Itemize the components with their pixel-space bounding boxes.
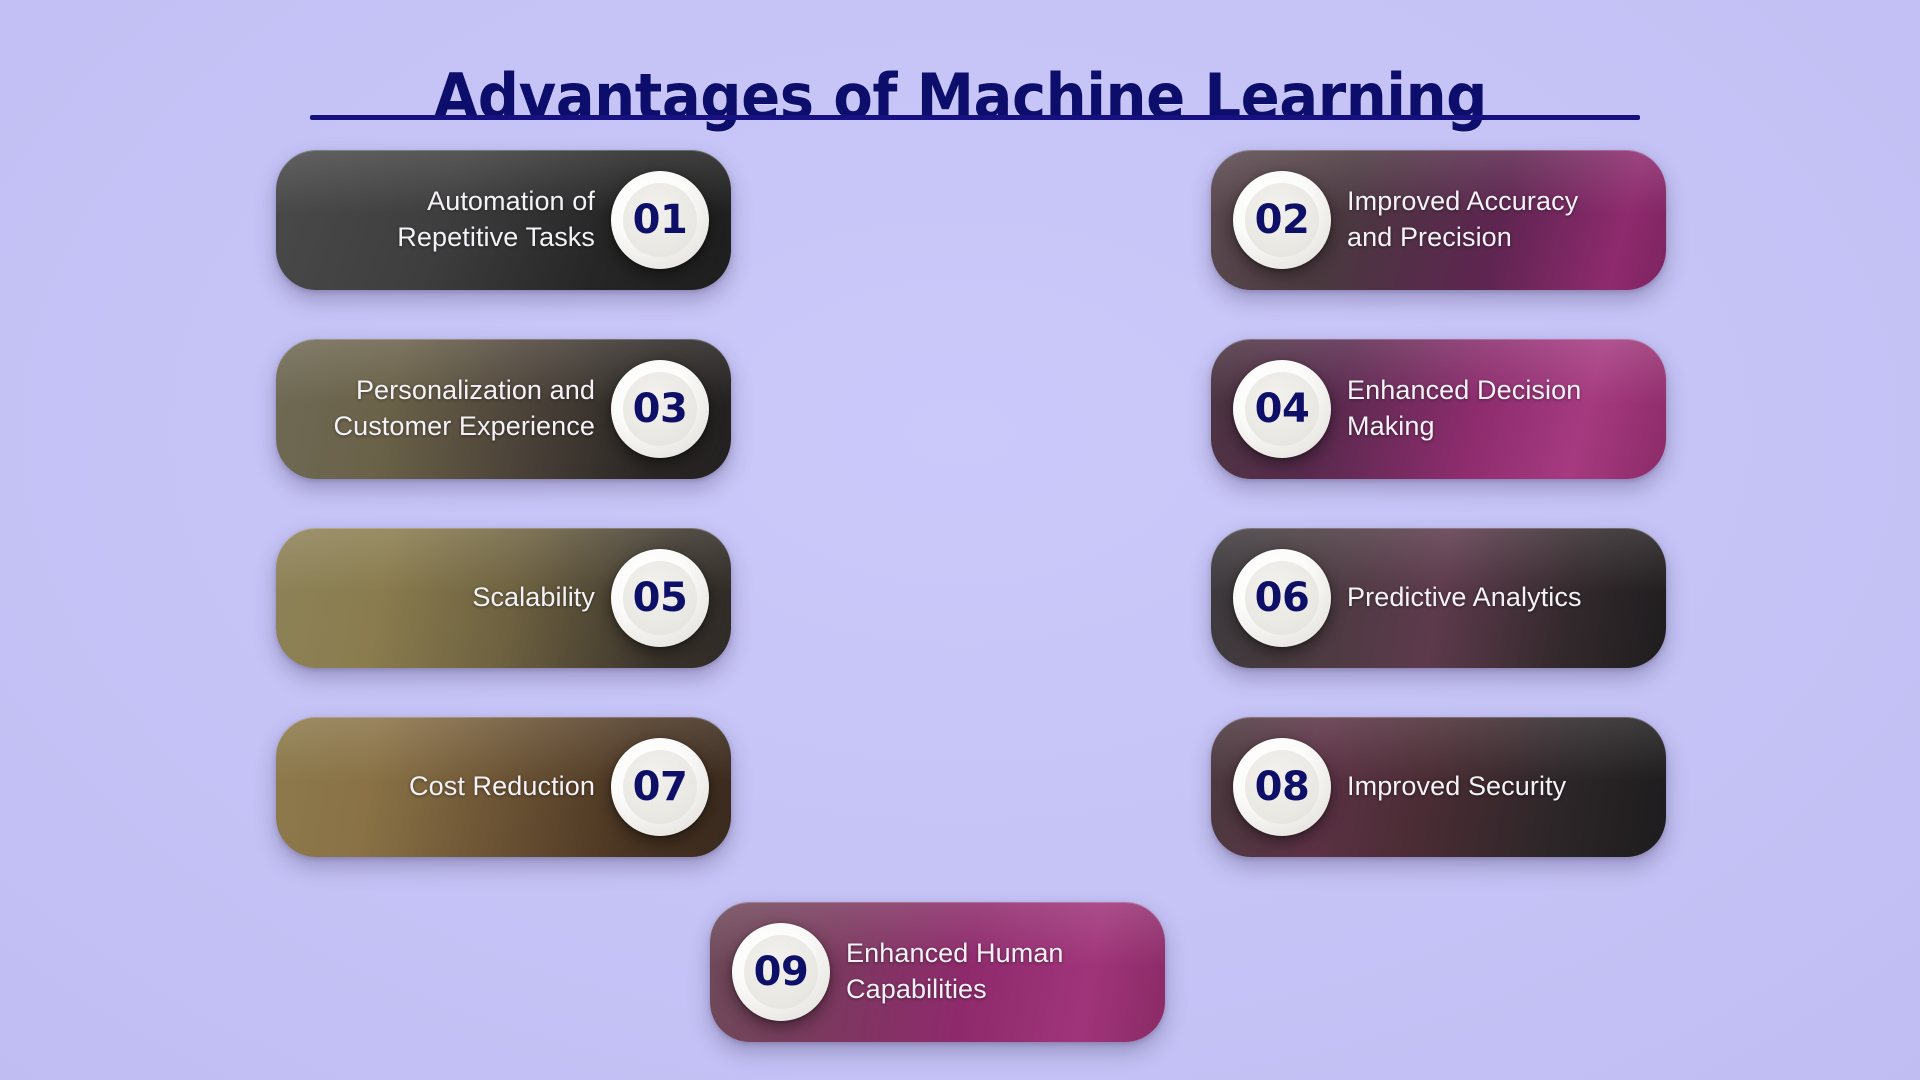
advantage-card-09[interactable]: 09 Enhanced Human Capabilities	[710, 902, 1165, 1042]
number-badge-06: 06	[1233, 549, 1331, 647]
badge-number-text: 02	[1255, 197, 1310, 243]
advantage-card-06[interactable]: 06 Predictive Analytics	[1211, 528, 1666, 668]
badge-number-text: 03	[633, 386, 688, 432]
number-badge-08: 08	[1233, 738, 1331, 836]
advantage-label-07: Cost Reduction	[409, 769, 595, 805]
number-badge-05: 05	[611, 549, 709, 647]
number-badge-01: 01	[611, 171, 709, 269]
advantage-label-06: Predictive Analytics	[1347, 580, 1582, 616]
advantage-card-grid: Automation of Repetitive Tasks 01 02 Imp…	[0, 150, 1920, 1050]
advantage-card-01[interactable]: Automation of Repetitive Tasks 01	[276, 150, 731, 290]
number-badge-07: 07	[611, 738, 709, 836]
advantage-label-08: Improved Security	[1347, 769, 1566, 805]
advantage-label-03: Personalization and Customer Experience	[333, 373, 595, 444]
advantage-card-05[interactable]: Scalability 05	[276, 528, 731, 668]
badge-number-text: 09	[754, 949, 809, 995]
number-badge-04: 04	[1233, 360, 1331, 458]
number-badge-03: 03	[611, 360, 709, 458]
number-badge-02: 02	[1233, 171, 1331, 269]
badge-number-text: 04	[1255, 386, 1310, 432]
advantage-card-04[interactable]: 04 Enhanced Decision Making	[1211, 339, 1666, 479]
badge-number-text: 01	[633, 197, 688, 243]
advantage-label-04: Enhanced Decision Making	[1347, 373, 1581, 444]
badge-number-text: 05	[633, 575, 688, 621]
advantage-label-02: Improved Accuracy and Precision	[1347, 184, 1578, 255]
page-title: Advantages of Machine Learning	[433, 64, 1486, 131]
title-underline-divider	[310, 115, 1640, 120]
number-badge-09: 09	[732, 923, 830, 1021]
advantage-label-01: Automation of Repetitive Tasks	[397, 184, 595, 255]
badge-number-text: 07	[633, 764, 688, 810]
advantage-label-09: Enhanced Human Capabilities	[846, 936, 1064, 1007]
advantage-label-05: Scalability	[472, 580, 595, 616]
advantage-card-02[interactable]: 02 Improved Accuracy and Precision	[1211, 150, 1666, 290]
infographic-poster: Advantages of Machine Learning Automatio…	[0, 0, 1920, 1080]
advantage-card-07[interactable]: Cost Reduction 07	[276, 717, 731, 857]
advantage-card-03[interactable]: Personalization and Customer Experience …	[276, 339, 731, 479]
badge-number-text: 08	[1255, 764, 1310, 810]
badge-number-text: 06	[1255, 575, 1310, 621]
advantage-card-08[interactable]: 08 Improved Security	[1211, 717, 1666, 857]
